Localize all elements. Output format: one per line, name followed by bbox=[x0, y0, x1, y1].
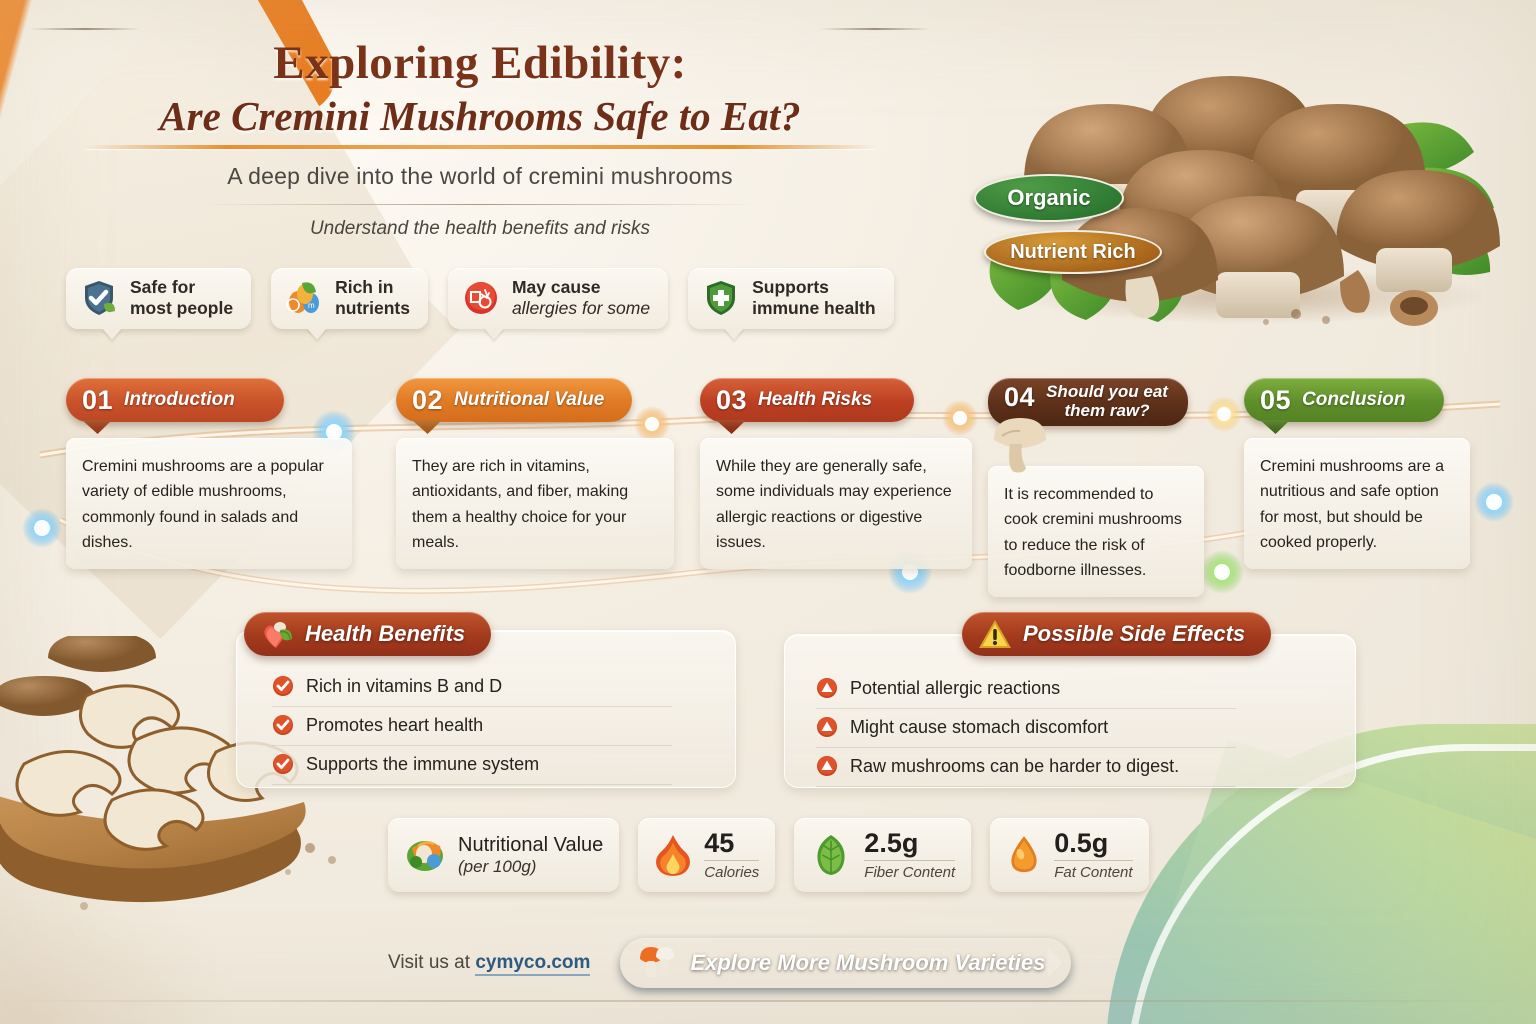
stat-calories-value: 45 bbox=[704, 829, 759, 857]
fact-bubble-nutrients[interactable]: m Rich in nutrients bbox=[271, 268, 428, 329]
stat-nutritional-value-title: Nutritional Value bbox=[458, 834, 603, 857]
fact-bubble-allergies[interactable]: May cause allergies for some bbox=[448, 268, 668, 329]
stat-fat-value: 0.5g bbox=[1054, 829, 1132, 857]
check-circle-icon bbox=[272, 675, 294, 697]
stat-fiber-label: Fiber Content bbox=[864, 860, 955, 881]
nutrients-icon: m bbox=[284, 278, 324, 318]
poster-footer: Visit us at cymyco.com Explore More Mush… bbox=[388, 938, 1071, 988]
health-benefits-title: Health Benefits bbox=[244, 612, 491, 656]
stat-nutritional-value-text: Nutritional Value (per 100g) bbox=[458, 834, 603, 877]
step-card-04-number: 04 bbox=[1004, 382, 1035, 413]
step-card-01-number: 01 bbox=[82, 385, 113, 416]
step-card-05-header: 05 Conclusion bbox=[1244, 378, 1444, 422]
infographic-poster: Exploring Edibility: Are Cremini Mushroo… bbox=[0, 0, 1536, 1024]
stat-calories-text: 45 Calories bbox=[704, 829, 759, 881]
side-effect-text: Potential allergic reactions bbox=[850, 678, 1060, 699]
explore-more-button[interactable]: Explore More Mushroom Varieties bbox=[620, 938, 1071, 988]
stat-nutritional-value: Nutritional Value (per 100g) bbox=[388, 818, 619, 892]
immune-shield-icon bbox=[701, 278, 741, 318]
step-card-01-header: 01 Introduction bbox=[66, 378, 284, 422]
step-card-04-body: It is recommended to cook cremini mushro… bbox=[988, 466, 1204, 597]
side-effects-list: Potential allergic reactions Might cause… bbox=[816, 670, 1236, 787]
health-benefits-list: Rich in vitamins B and D Promotes heart … bbox=[272, 668, 672, 785]
side-effects-title: Possible Side Effects bbox=[962, 612, 1271, 656]
badge-nutrient-rich: Nutrient Rich bbox=[984, 230, 1162, 274]
visit-us-text: Visit us at cymyco.com bbox=[388, 952, 590, 974]
side-effects-panel: Possible Side Effects Potential allergic… bbox=[784, 612, 1356, 788]
page-title-secondary: Are Cremini Mushrooms Safe to Eat? bbox=[0, 91, 960, 141]
warning-triangle-icon bbox=[978, 617, 1012, 651]
list-item: Promotes heart health bbox=[272, 707, 672, 746]
fact-bubble-immune-label: Supports immune health bbox=[752, 277, 876, 320]
list-item: Might cause stomach discomfort bbox=[816, 709, 1236, 748]
health-benefit-text: Promotes heart health bbox=[306, 715, 483, 736]
step-card-01-body: Cremini mushrooms are a popular variety … bbox=[66, 438, 352, 569]
list-item: Supports the immune system bbox=[272, 746, 672, 785]
fact-bubble-safe[interactable]: Safe for most people bbox=[66, 268, 251, 329]
fact-bubble-safe-label: Safe for most people bbox=[130, 277, 233, 320]
step-card-01-label: Introduction bbox=[124, 390, 235, 411]
stat-calories: 45 Calories bbox=[638, 818, 775, 892]
footer-divider bbox=[0, 1000, 1536, 1002]
step-card-03-header: 03 Health Risks bbox=[700, 378, 914, 422]
fact-bubble-allergies-label: May cause allergies for some bbox=[512, 277, 650, 320]
visit-prefix: Visit us at bbox=[388, 952, 475, 973]
allergy-icon bbox=[461, 278, 501, 318]
stat-nutritional-value-sub: (per 100g) bbox=[458, 857, 603, 877]
side-effect-text: Might cause stomach discomfort bbox=[850, 717, 1108, 738]
stat-fat-label: Fat Content bbox=[1054, 860, 1132, 881]
step-card-02[interactable]: 02 Nutritional Value They are rich in vi… bbox=[396, 378, 674, 569]
check-circle-icon bbox=[272, 714, 294, 736]
title-underline bbox=[85, 145, 875, 149]
subtitle-divider bbox=[200, 204, 760, 205]
shield-check-icon bbox=[79, 278, 119, 318]
visit-site-link[interactable]: cymyco.com bbox=[475, 952, 590, 976]
stat-fiber-value: 2.5g bbox=[864, 829, 955, 857]
badge-organic: Organic bbox=[974, 174, 1124, 222]
explore-more-button-label: Explore More Mushroom Varieties bbox=[690, 950, 1045, 976]
health-benefit-text: Rich in vitamins B and D bbox=[306, 676, 502, 697]
health-benefit-text: Supports the immune system bbox=[306, 754, 539, 775]
mushroom-cluster-icon bbox=[966, 8, 1526, 328]
fact-bubble-immune[interactable]: Supports immune health bbox=[688, 268, 894, 329]
warning-circle-icon bbox=[816, 677, 838, 699]
step-card-03-label: Health Risks bbox=[758, 390, 872, 411]
flame-icon bbox=[654, 833, 692, 877]
step-card-05-label: Conclusion bbox=[1302, 390, 1405, 411]
title-side-rules bbox=[0, 18, 960, 38]
mushroom-single-icon bbox=[990, 414, 1056, 474]
step-card-02-header: 02 Nutritional Value bbox=[396, 378, 632, 422]
badge-organic-label: Organic bbox=[1007, 185, 1090, 211]
step-card-05-body: Cremini mushrooms are a nutritious and s… bbox=[1244, 438, 1470, 569]
check-circle-icon bbox=[272, 753, 294, 775]
nutrition-stats-row: Nutritional Value (per 100g) 45 Calories bbox=[388, 818, 1149, 892]
stat-fat-text: 0.5g Fat Content bbox=[1054, 829, 1132, 881]
step-card-05[interactable]: 05 Conclusion Cremini mushrooms are a nu… bbox=[1244, 378, 1470, 569]
nutrition-plate-icon bbox=[404, 834, 446, 876]
svg-text:m: m bbox=[308, 301, 315, 310]
list-item: Rich in vitamins B and D bbox=[272, 668, 672, 707]
stat-fat: 0.5g Fat Content bbox=[990, 818, 1148, 892]
step-card-04[interactable]: 04 Should you eat them raw? It is recomm… bbox=[988, 378, 1204, 597]
page-subtitle: A deep dive into the world of cremini mu… bbox=[0, 163, 960, 190]
badge-nutrient-rich-label: Nutrient Rich bbox=[1010, 241, 1136, 264]
chevron-right-icon bbox=[1047, 947, 1061, 979]
droplet-icon bbox=[1006, 833, 1042, 877]
stat-fiber: 2.5g Fiber Content bbox=[794, 818, 971, 892]
warning-circle-icon bbox=[816, 755, 838, 777]
step-card-03-number: 03 bbox=[716, 385, 747, 416]
health-benefits-panel: Health Benefits Rich in vitamins B and D… bbox=[236, 612, 736, 788]
step-card-03[interactable]: 03 Health Risks While they are generally… bbox=[700, 378, 972, 569]
leaf-icon bbox=[810, 833, 852, 877]
poster-header: Exploring Edibility: Are Cremini Mushroo… bbox=[0, 18, 960, 240]
step-card-02-label: Nutritional Value bbox=[454, 390, 604, 411]
step-card-row: 01 Introduction Cremini mushrooms are a … bbox=[0, 378, 1536, 608]
fact-bubble-nutrients-label: Rich in nutrients bbox=[335, 277, 410, 320]
step-card-05-number: 05 bbox=[1260, 385, 1291, 416]
step-card-02-number: 02 bbox=[412, 385, 443, 416]
fact-bubble-row: Safe for most people m Rich in nutrients bbox=[66, 268, 894, 329]
step-card-02-body: They are rich in vitamins, antioxidants,… bbox=[396, 438, 674, 569]
stat-fiber-text: 2.5g Fiber Content bbox=[864, 829, 955, 881]
page-tagline: Understand the health benefits and risks bbox=[0, 218, 960, 240]
side-effects-title-label: Possible Side Effects bbox=[1023, 621, 1245, 647]
health-benefits-title-label: Health Benefits bbox=[305, 621, 465, 647]
hero-mushroom-illustration: Organic Nutrient Rich bbox=[966, 8, 1526, 328]
step-card-03-body: While they are generally safe, some indi… bbox=[700, 438, 972, 569]
step-card-01[interactable]: 01 Introduction Cremini mushrooms are a … bbox=[66, 378, 352, 569]
stat-calories-label: Calories bbox=[704, 860, 759, 881]
list-item: Potential allergic reactions bbox=[816, 670, 1236, 709]
page-title-primary: Exploring Edibility: bbox=[0, 38, 960, 89]
step-card-04-label: Should you eat them raw? bbox=[1046, 382, 1168, 420]
heart-leaf-icon bbox=[260, 617, 294, 651]
mushroom-pair-icon bbox=[638, 945, 678, 981]
side-effect-text: Raw mushrooms can be harder to digest. bbox=[850, 756, 1179, 777]
list-item: Raw mushrooms can be harder to digest. bbox=[816, 748, 1236, 787]
warning-circle-icon bbox=[816, 716, 838, 738]
